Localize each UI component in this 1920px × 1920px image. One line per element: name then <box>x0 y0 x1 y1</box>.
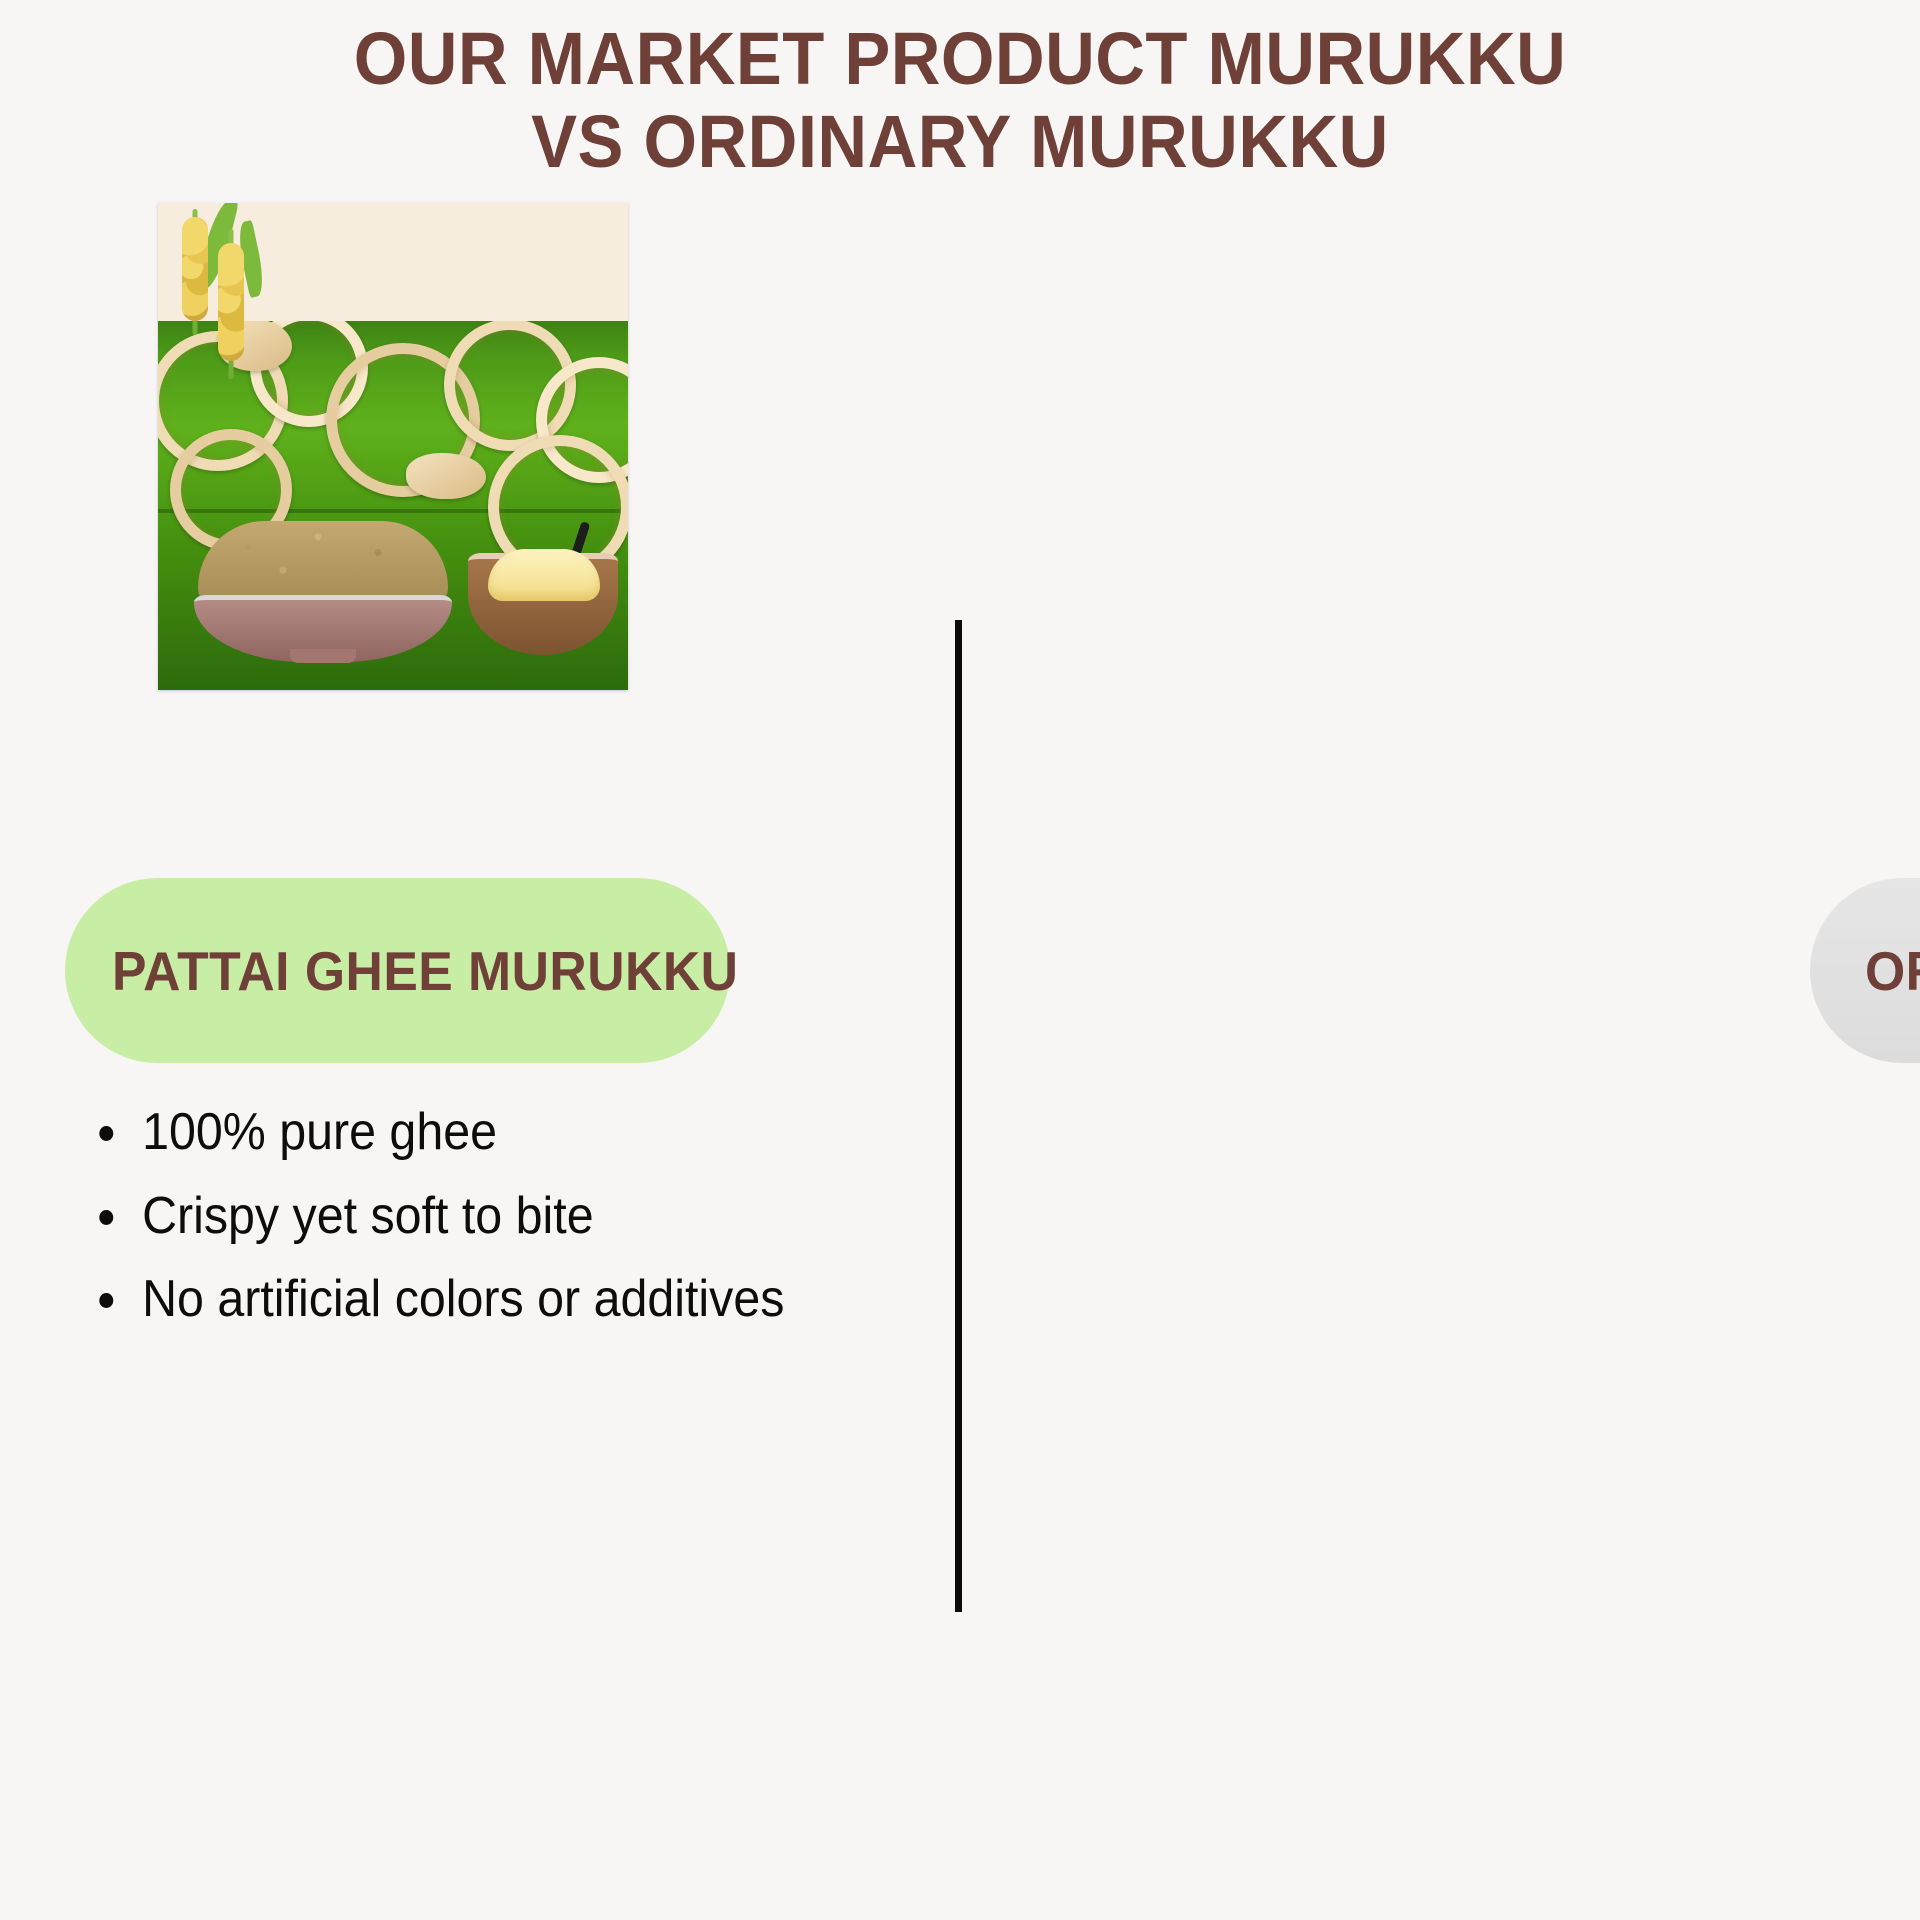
feature-list-left: 100% pure ghee Crispy yet soft to bite N… <box>90 1098 880 1349</box>
label-pill-left-text: PATTAI GHEE MURUKKU <box>112 939 738 1003</box>
list-item-text: No artificial colors or additives <box>142 1270 784 1328</box>
label-pill-ordinary-murukku: ORDINARY MURUKKU <box>1810 878 1920 1063</box>
millet-stalk <box>218 229 244 379</box>
ghee-bowl <box>468 535 618 653</box>
page-title-line-1: OUR MARKET PRODUCT MURUKKU <box>67 18 1853 101</box>
label-pill-right-text: ORDINARY MURUKKU <box>1865 939 1920 1003</box>
millet-head <box>182 217 208 321</box>
bowl-foot <box>290 649 356 663</box>
bullet-dot-icon <box>99 1210 113 1225</box>
millet-stalk <box>182 209 208 335</box>
butter-ghee <box>488 549 600 601</box>
list-item: Crispy yet soft to bite <box>90 1182 825 1252</box>
page-title-line-2: VS ORDINARY MURUKKU <box>67 101 1853 184</box>
list-item-text: Crispy yet soft to bite <box>142 1187 594 1245</box>
millet-head <box>218 243 244 361</box>
page-title: OUR MARKET PRODUCT MURUKKU VS ORDINARY M… <box>67 18 1853 184</box>
column-divider <box>955 620 962 1612</box>
list-item-text: 100% pure ghee <box>142 1103 497 1161</box>
millet-bowl <box>194 521 452 661</box>
list-item: No artificial colors or additives <box>90 1265 825 1335</box>
bullet-dot-icon <box>99 1293 113 1308</box>
list-item: 100% pure ghee <box>90 1098 825 1168</box>
product-packshot-image: Butter kodo Millet Murukku வரகு நெய் தட்… <box>158 203 628 690</box>
murukku-piece <box>406 453 486 499</box>
bullet-dot-icon <box>99 1126 113 1141</box>
label-pill-pattai-ghee-murukku: PATTAI GHEE MURUKKU <box>65 878 730 1063</box>
